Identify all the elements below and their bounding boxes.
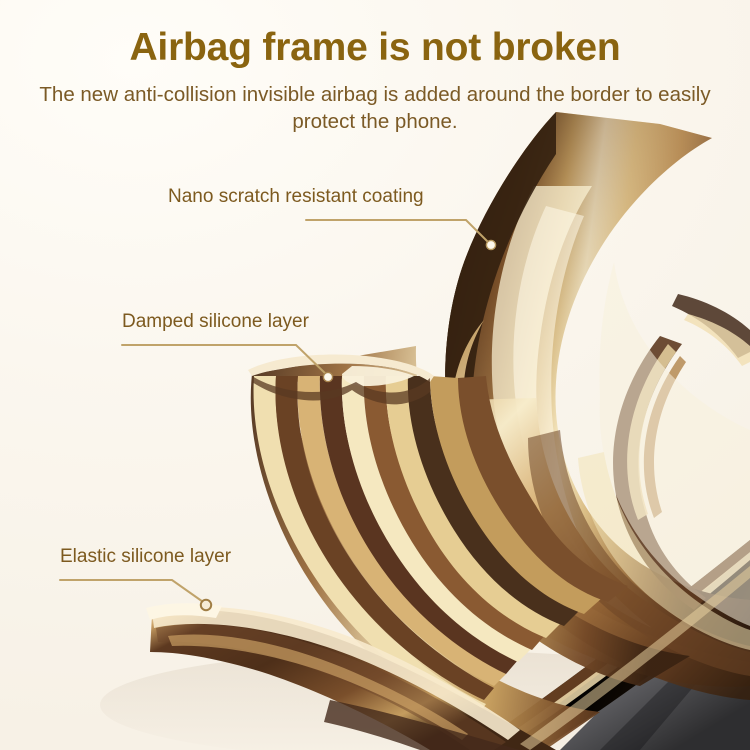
page-subtitle: The new anti-collision invisible airbag … [8, 81, 742, 135]
callout-marker-damped [323, 372, 332, 381]
callout-marker-nano [486, 240, 495, 249]
callout-label-nano-scratch-resistant-coating: Nano scratch resistant coating [168, 186, 424, 208]
callout-label-damped-silicone-layer: Damped silicone layer [122, 311, 309, 333]
callout-marker-elastic [201, 600, 211, 610]
page-title: Airbag frame is not broken [0, 28, 750, 69]
callout-label-elastic-silicone-layer: Elastic silicone layer [60, 546, 231, 568]
promo-banner: Airbag frame is not broken The new anti-… [0, 0, 750, 750]
